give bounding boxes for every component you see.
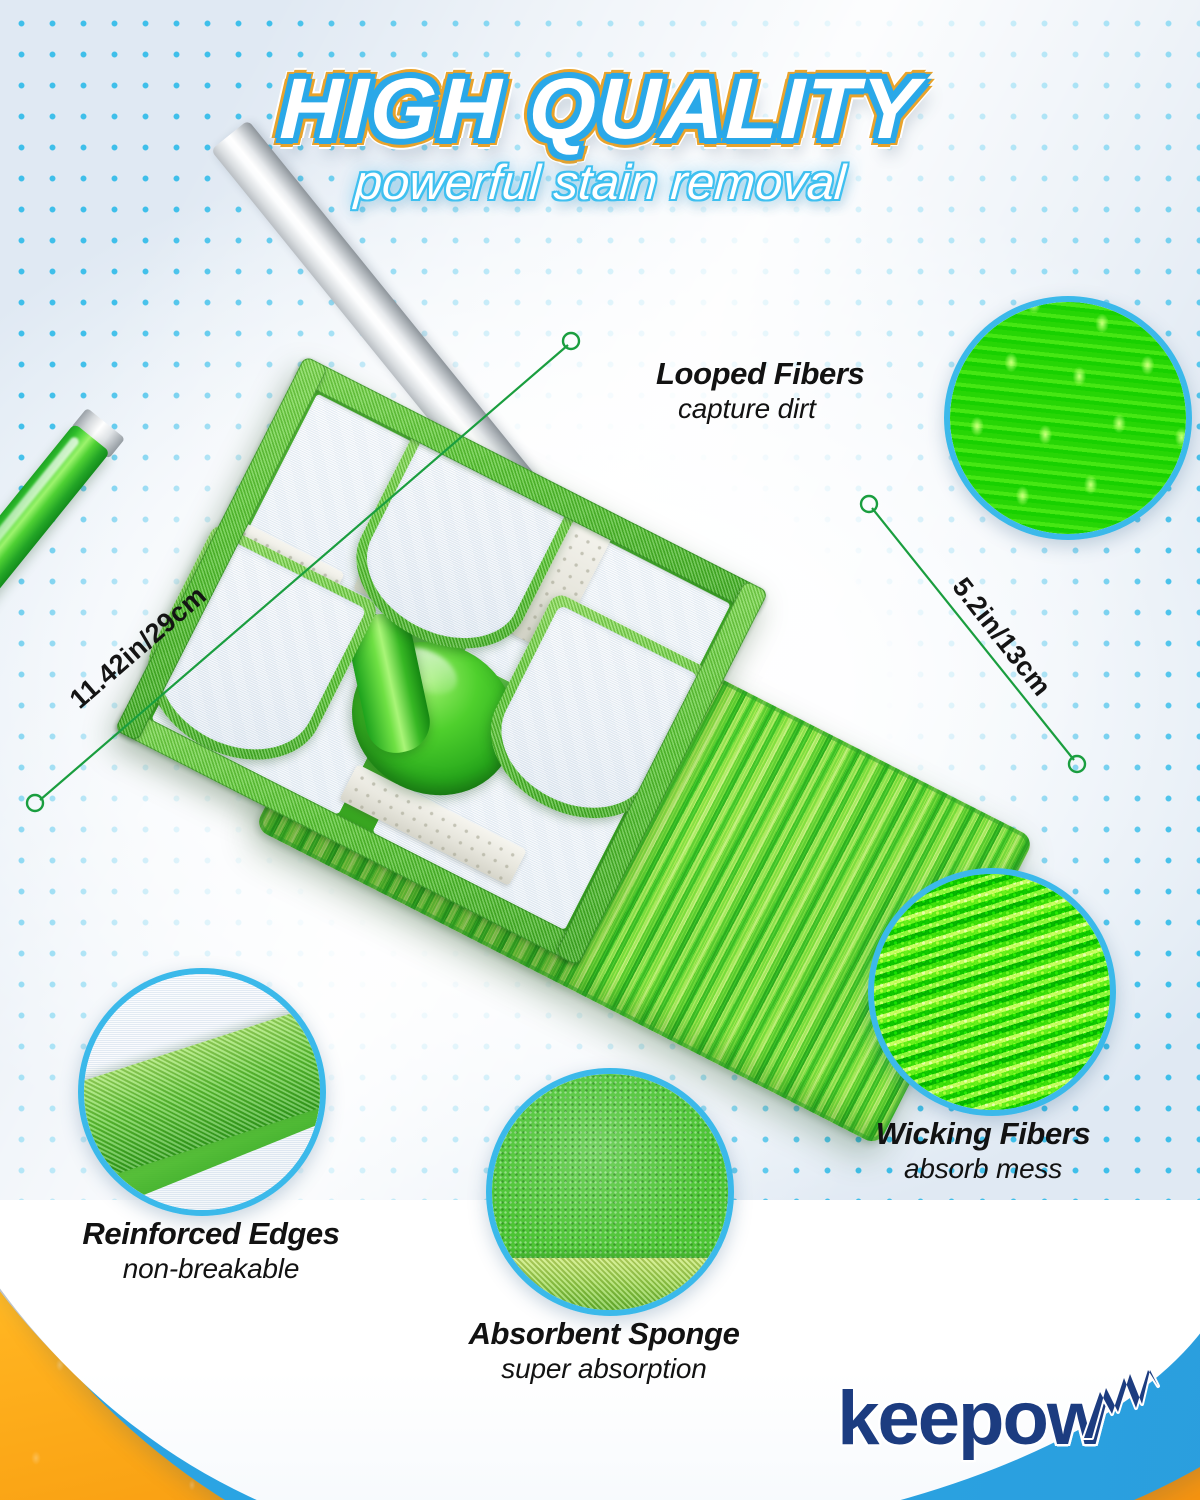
callout-absorbent-sponge: Absorbent Sponge super absorption xyxy=(432,1318,776,1384)
callout-reinforced-edges-subtitle: non-breakable xyxy=(46,1253,376,1284)
looped-fiber-texture xyxy=(950,302,1186,534)
brand-logo: keepow xyxy=(837,1364,1164,1454)
callout-wicking-fibers-title: Wicking Fibers xyxy=(848,1118,1118,1151)
callout-reinforced-edges-title: Reinforced Edges xyxy=(46,1218,376,1251)
swatch-looped-fibers-texture xyxy=(950,302,1186,534)
swatch-wicking-fibers xyxy=(868,868,1116,1116)
brand-logo-text: keepow xyxy=(837,1384,1104,1454)
lightning-bolt-svg xyxy=(1078,1364,1164,1442)
callout-reinforced-edges: Reinforced Edges non-breakable xyxy=(46,1218,376,1284)
swatch-absorbent-sponge-texture xyxy=(492,1074,728,1310)
wicking-fiber-texture xyxy=(874,874,1110,1110)
sponge-edge-band xyxy=(492,1258,728,1310)
callout-wicking-fibers: Wicking Fibers absorb mess xyxy=(848,1118,1118,1184)
callout-absorbent-sponge-title: Absorbent Sponge xyxy=(432,1318,776,1351)
swatch-reinforced-edges xyxy=(78,968,326,1216)
swatch-looped-fibers xyxy=(944,296,1192,540)
infographic-canvas: HIGH QUALITY powerful stain removal xyxy=(0,0,1200,1500)
callout-looped-fibers-subtitle: capture dirt xyxy=(656,393,864,424)
swatch-wicking-fibers-texture xyxy=(874,874,1110,1110)
swatch-reinforced-edges-texture xyxy=(84,974,320,1210)
callout-absorbent-sponge-subtitle: super absorption xyxy=(432,1353,776,1384)
callout-looped-fibers-title: Looped Fibers xyxy=(656,358,864,391)
swatch-absorbent-sponge xyxy=(486,1068,734,1316)
lightning-bolt-icon xyxy=(1078,1364,1164,1452)
callout-wicking-fibers-subtitle: absorb mess xyxy=(848,1153,1118,1184)
callout-looped-fibers: Looped Fibers capture dirt xyxy=(656,358,864,424)
